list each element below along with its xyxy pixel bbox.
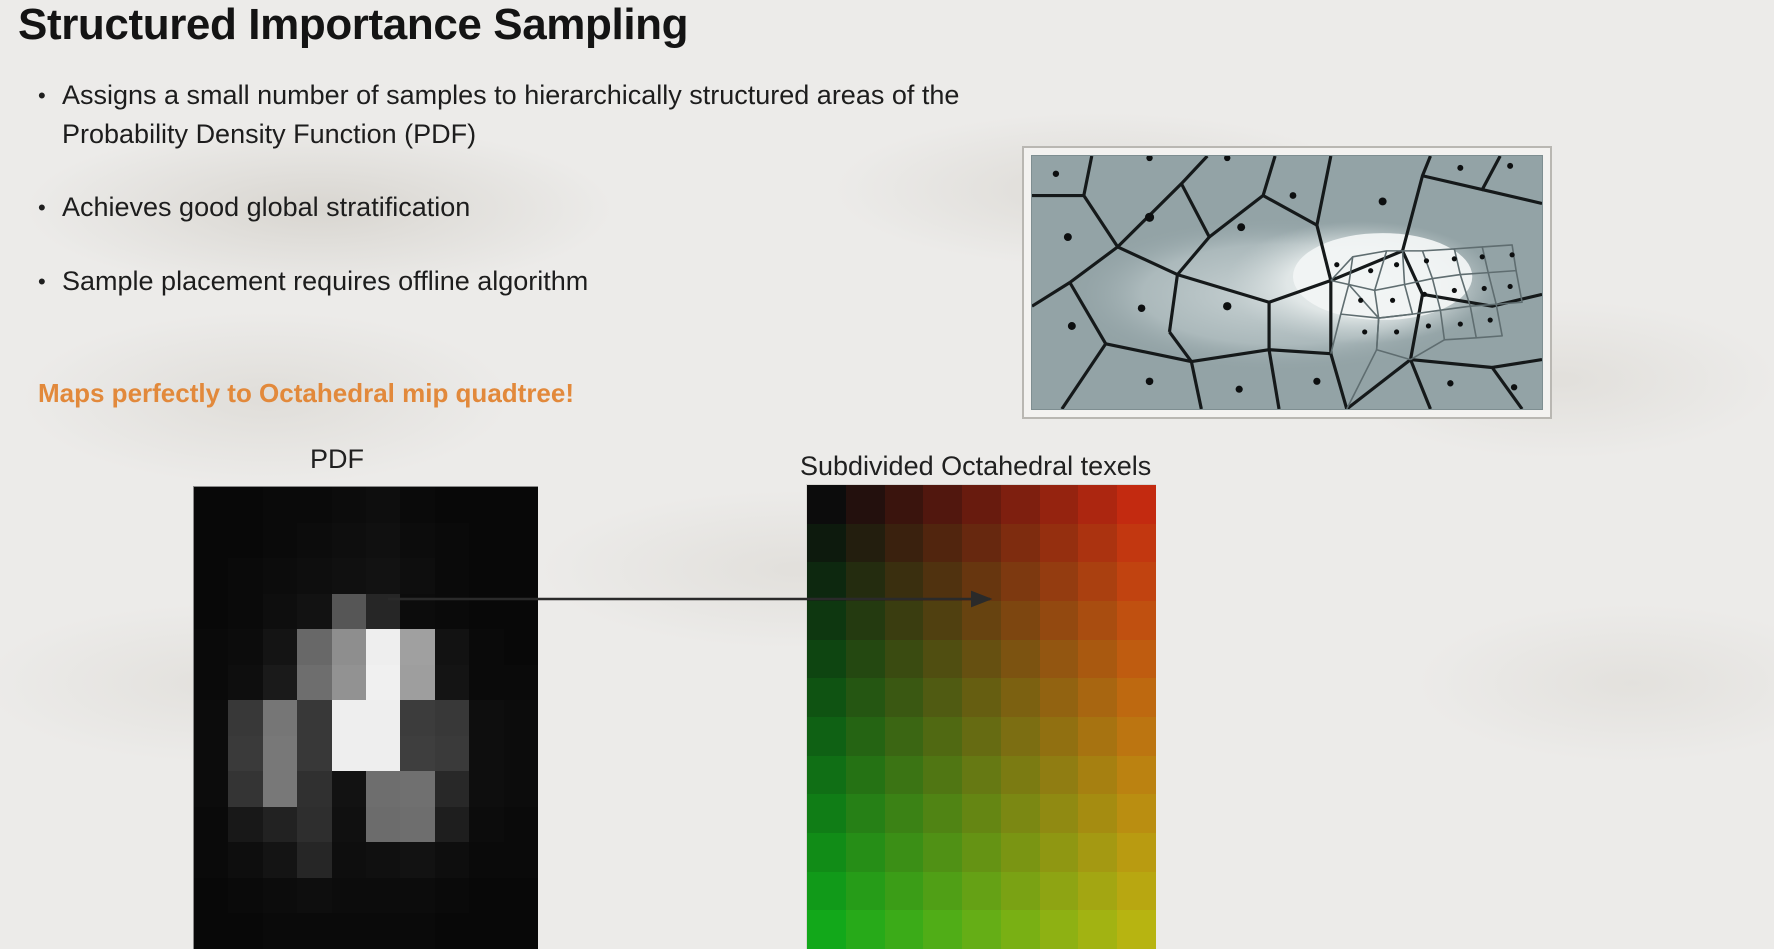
pdf-texel [332, 487, 366, 523]
octahedral-texel [1078, 872, 1117, 911]
pdf-texel [366, 807, 400, 843]
octahedral-texel [1001, 640, 1040, 679]
octahedral-texel [1117, 524, 1156, 563]
octahedral-texel [1078, 640, 1117, 679]
pdf-texel [366, 487, 400, 523]
pdf-texel [400, 736, 434, 772]
pdf-texel [332, 771, 366, 807]
octahedral-texel [807, 717, 846, 756]
octahedral-texel [962, 833, 1001, 872]
octahedral-texel [846, 756, 885, 795]
octahedral-texel [1117, 562, 1156, 601]
pdf-texel [400, 665, 434, 701]
octahedral-texel [885, 833, 924, 872]
pdf-texel [297, 700, 331, 736]
pdf-texel [469, 771, 503, 807]
bullet-text: Sample placement requires offline algori… [62, 262, 588, 301]
pdf-texel [366, 842, 400, 878]
octahedral-texel [1078, 524, 1117, 563]
octahedral-texel [1001, 910, 1040, 949]
pdf-texel [228, 913, 262, 949]
octahedral-texel [923, 524, 962, 563]
octahedral-texel [885, 756, 924, 795]
pdf-texel [332, 594, 366, 630]
octahedral-texel [846, 910, 885, 949]
octahedral-texel [1040, 756, 1079, 795]
pdf-texel [435, 736, 469, 772]
pdf-texel [194, 878, 228, 914]
octahedral-texel [1078, 833, 1117, 872]
octahedral-texel [923, 833, 962, 872]
pdf-texel [263, 594, 297, 630]
octahedral-texel [923, 910, 962, 949]
page-title: Structured Importance Sampling [18, 0, 688, 50]
pdf-texel [366, 771, 400, 807]
octahedral-texel [1040, 678, 1079, 717]
pdf-texel [504, 665, 538, 701]
octahedral-texel [1117, 833, 1156, 872]
pdf-texel [194, 629, 228, 665]
pdf-texel [297, 807, 331, 843]
list-item: • Assigns a small number of samples to h… [34, 76, 1054, 154]
pdf-texel [194, 771, 228, 807]
pdf-texel [297, 487, 331, 523]
pdf-texel [400, 913, 434, 949]
pdf-texel [469, 913, 503, 949]
octahedral-texel [846, 640, 885, 679]
octahedral-texel [923, 872, 962, 911]
pdf-texel [228, 878, 262, 914]
octahedral-texel [962, 756, 1001, 795]
octahedral-texel [962, 794, 1001, 833]
octahedral-texel [962, 524, 1001, 563]
octahedral-texel [1040, 872, 1079, 911]
pdf-texel [263, 771, 297, 807]
octahedral-texel [807, 640, 846, 679]
octahedral-texel [962, 678, 1001, 717]
octahedral-texel [1078, 601, 1117, 640]
octahedral-texel [923, 756, 962, 795]
pdf-texel [194, 665, 228, 701]
octahedral-texel [962, 485, 1001, 524]
octahedral-texel [1040, 524, 1079, 563]
pdf-texel [366, 736, 400, 772]
pdf-texel [297, 629, 331, 665]
octahedral-texel [1078, 485, 1117, 524]
octahedral-texel [846, 524, 885, 563]
octahedral-texel [807, 485, 846, 524]
pdf-texel [332, 665, 366, 701]
pdf-texel [332, 700, 366, 736]
pdf-texel [297, 594, 331, 630]
octahedral-texel [1040, 485, 1079, 524]
pdf-texel [263, 665, 297, 701]
voronoi-diagram [1031, 155, 1543, 410]
pdf-texel [263, 913, 297, 949]
bullet-marker-icon: • [34, 262, 62, 302]
octahedral-texel [885, 910, 924, 949]
pdf-texel [504, 878, 538, 914]
octahedral-texel [1117, 717, 1156, 756]
octahedral-texel [1117, 678, 1156, 717]
pdf-texel [194, 558, 228, 594]
pdf-texel [263, 487, 297, 523]
octahedral-texel [1078, 678, 1117, 717]
pdf-texel [228, 700, 262, 736]
pdf-texel [297, 878, 331, 914]
pdf-texel [366, 700, 400, 736]
octahedral-texel [1117, 756, 1156, 795]
octahedral-texel [807, 794, 846, 833]
pdf-texel [263, 842, 297, 878]
pdf-texel [400, 700, 434, 736]
octahedral-texel [1001, 756, 1040, 795]
octahedral-texel [846, 872, 885, 911]
octahedral-texel [885, 717, 924, 756]
pdf-texel [400, 878, 434, 914]
pdf-texel [332, 913, 366, 949]
octahedral-texel [885, 640, 924, 679]
pdf-texel [435, 842, 469, 878]
pdf-texel [228, 807, 262, 843]
pdf-texel [435, 523, 469, 559]
pdf-texel [228, 487, 262, 523]
pdf-texel [297, 558, 331, 594]
pdf-texel [366, 913, 400, 949]
octahedral-texel [1078, 562, 1117, 601]
octahedral-texel [807, 524, 846, 563]
pdf-texel [228, 558, 262, 594]
pdf-texel [228, 842, 262, 878]
voronoi-diagram-frame [1022, 146, 1552, 419]
pdf-texel [435, 700, 469, 736]
pdf-texel [194, 594, 228, 630]
pdf-texel [194, 807, 228, 843]
octahedral-texel [885, 524, 924, 563]
octahedral-texel [1001, 833, 1040, 872]
pdf-texel [332, 629, 366, 665]
octahedral-texel [923, 794, 962, 833]
list-item: • Sample placement requires offline algo… [34, 262, 1054, 302]
bullet-marker-icon: • [34, 76, 62, 116]
pdf-texel [263, 523, 297, 559]
pdf-to-texel-arrow [380, 580, 1020, 620]
pdf-texel [469, 700, 503, 736]
voronoi-svg [1032, 156, 1542, 409]
pdf-texel [435, 487, 469, 523]
pdf-texel [332, 736, 366, 772]
bullet-marker-icon: • [34, 188, 62, 228]
octahedral-texel [1040, 562, 1079, 601]
octahedral-texel [1040, 794, 1079, 833]
pdf-grayscale-grid [193, 486, 538, 949]
pdf-texel [228, 629, 262, 665]
pdf-texel [228, 771, 262, 807]
octahedral-texel [1078, 910, 1117, 949]
octahedral-texel [885, 794, 924, 833]
octahedral-texel [1040, 910, 1079, 949]
octahedral-texel [807, 910, 846, 949]
octahedral-texel [885, 485, 924, 524]
pdf-texel [504, 913, 538, 949]
bullet-text: Assigns a small number of samples to hie… [62, 76, 992, 154]
pdf-texel [332, 878, 366, 914]
octahedral-texel [1040, 601, 1079, 640]
octahedral-texel [885, 678, 924, 717]
pdf-texel [228, 594, 262, 630]
octahedral-texel [1078, 794, 1117, 833]
octahedral-texel [923, 678, 962, 717]
pdf-texel [435, 665, 469, 701]
octahedral-texel [923, 640, 962, 679]
octahedral-texel [1001, 794, 1040, 833]
pdf-texel [504, 487, 538, 523]
octahedral-texel [1001, 485, 1040, 524]
pdf-texel [435, 878, 469, 914]
octahedral-texel [1040, 717, 1079, 756]
pdf-texel [469, 487, 503, 523]
pdf-texel [332, 558, 366, 594]
octahedral-texel [1001, 872, 1040, 911]
octahedral-texel [807, 833, 846, 872]
pdf-texel [194, 842, 228, 878]
octahedral-texel [1117, 601, 1156, 640]
pdf-texel [469, 523, 503, 559]
pdf-texel [194, 913, 228, 949]
pdf-texel [400, 523, 434, 559]
pdf-texel [297, 913, 331, 949]
octahedral-texel [807, 678, 846, 717]
pdf-texel [194, 523, 228, 559]
pdf-texel [228, 736, 262, 772]
pdf-texel [504, 700, 538, 736]
pdf-texel [435, 771, 469, 807]
pdf-texel [366, 629, 400, 665]
pdf-texel [504, 629, 538, 665]
pdf-texel [435, 629, 469, 665]
octahedral-texel [962, 717, 1001, 756]
pdf-texel [469, 665, 503, 701]
pdf-texel [504, 807, 538, 843]
pdf-texel [228, 665, 262, 701]
pdf-texel [469, 878, 503, 914]
pdf-texel [297, 842, 331, 878]
octahedral-texel [1001, 678, 1040, 717]
octahedral-texel [846, 485, 885, 524]
octahedral-texel [1001, 717, 1040, 756]
pdf-texel [263, 878, 297, 914]
octahedral-texel [846, 717, 885, 756]
octahedral-texel [962, 872, 1001, 911]
octahedral-texel [1078, 756, 1117, 795]
octahedral-texel [846, 833, 885, 872]
octahedral-texel [846, 794, 885, 833]
octahedral-texel [1078, 717, 1117, 756]
pdf-texel [504, 523, 538, 559]
octahedral-texel [885, 872, 924, 911]
octahedral-texel [962, 910, 1001, 949]
pdf-texel [332, 523, 366, 559]
pdf-texel [297, 523, 331, 559]
pdf-texel [400, 487, 434, 523]
pdf-texel [504, 771, 538, 807]
octahedral-texel [807, 872, 846, 911]
pdf-texel [297, 736, 331, 772]
list-item: • Achieves good global stratification [34, 188, 1054, 228]
octahedral-texel [1040, 640, 1079, 679]
octahedral-texel [846, 678, 885, 717]
pdf-texel [263, 558, 297, 594]
pdf-texel [366, 523, 400, 559]
pdf-texel [469, 842, 503, 878]
pdf-texel [263, 736, 297, 772]
pdf-texel [332, 842, 366, 878]
octahedral-texel [962, 640, 1001, 679]
pdf-texel [400, 842, 434, 878]
octahedral-texel [807, 756, 846, 795]
pdf-texel [366, 878, 400, 914]
pdf-texel [194, 736, 228, 772]
octahedral-texel [1040, 833, 1079, 872]
pdf-texel [469, 629, 503, 665]
pdf-texel [297, 771, 331, 807]
bullet-text: Achieves good global stratification [62, 188, 470, 227]
octahedral-texel [1117, 910, 1156, 949]
octahedral-texel [1117, 872, 1156, 911]
octahedral-texel [1117, 485, 1156, 524]
pdf-texel [297, 665, 331, 701]
bullet-list: • Assigns a small number of samples to h… [34, 76, 1054, 336]
pdf-texel [263, 700, 297, 736]
pdf-texel [400, 771, 434, 807]
pdf-caption: PDF [310, 444, 364, 475]
texels-caption: Subdivided Octahedral texels [800, 451, 1151, 482]
octahedral-texel [1117, 640, 1156, 679]
pdf-texel [366, 665, 400, 701]
pdf-texel [400, 807, 434, 843]
pdf-texel [504, 736, 538, 772]
octahedral-texel-gradient-grid [806, 484, 1156, 949]
pdf-texel [194, 487, 228, 523]
pdf-texel [194, 700, 228, 736]
octahedral-texel [923, 485, 962, 524]
pdf-texel [469, 807, 503, 843]
pdf-texel [469, 736, 503, 772]
pdf-texel [435, 807, 469, 843]
octahedral-texel [1117, 794, 1156, 833]
highlight-callout-text: Maps perfectly to Octahedral mip quadtre… [38, 378, 574, 409]
octahedral-texel [923, 717, 962, 756]
octahedral-texel [1001, 524, 1040, 563]
pdf-texel [504, 842, 538, 878]
pdf-texel [332, 807, 366, 843]
pdf-texel [263, 629, 297, 665]
pdf-texel [263, 807, 297, 843]
pdf-texel [400, 629, 434, 665]
pdf-texel [228, 523, 262, 559]
pdf-texel [435, 913, 469, 949]
